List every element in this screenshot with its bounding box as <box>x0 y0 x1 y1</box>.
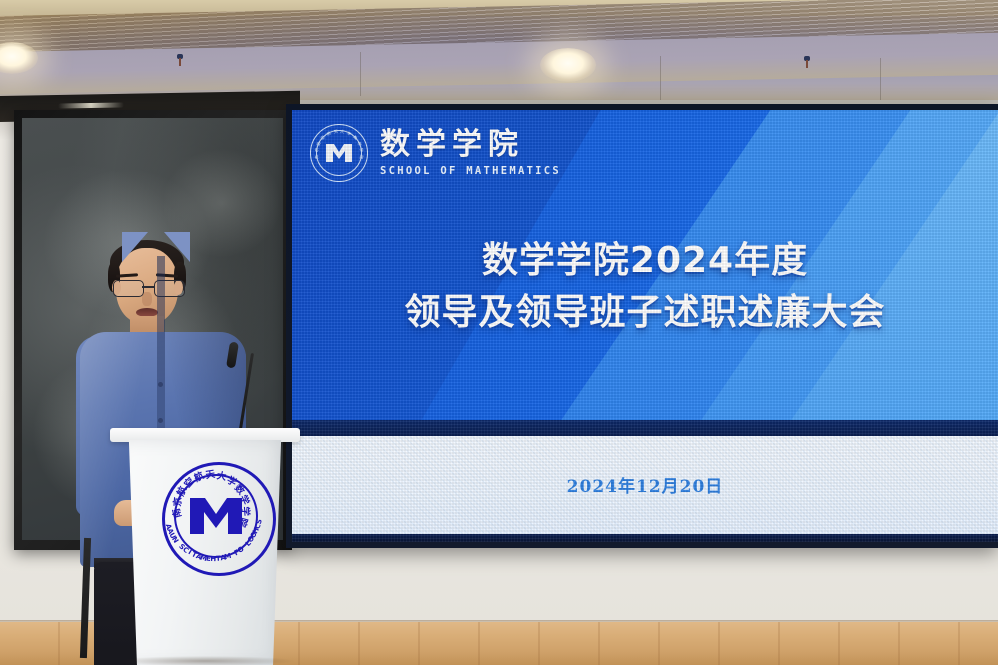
podium: 南京航空航天大学数学学院 SCHOOL OF MATHEMATICS NUAA <box>110 428 300 665</box>
podium-top-surface <box>110 428 300 442</box>
sprinkler-icon <box>803 56 811 68</box>
screen-headline: 数学学院2024年度 领导及领导班子述职述廉大会 <box>292 238 998 336</box>
speaker-collar <box>122 232 148 262</box>
sprinkler-icon <box>176 54 184 66</box>
screen-divider-band <box>292 420 998 436</box>
podium-floor-shadow <box>116 656 294 665</box>
ceiling <box>0 0 998 104</box>
ceiling-downlight <box>540 48 596 82</box>
screen-logo-title-zh: 数学学院 <box>380 130 561 160</box>
screen-white-band: 2024年12月20日 <box>292 436 998 534</box>
m-monogram-icon <box>325 143 353 163</box>
screen-bottom-edge <box>292 534 998 542</box>
headline-line-2: 领导及领导班子述职述廉大会 <box>292 290 998 336</box>
speaker-collar <box>164 232 190 262</box>
led-presentation-screen[interactable]: 南京航空航天大学数学学院 数学学院 SCHOOL OF MATHEMATICS … <box>292 110 998 542</box>
ceiling-seam <box>660 56 661 100</box>
headline-line-1: 数学学院2024年度 <box>292 238 998 284</box>
screen-header: 南京航空航天大学数学学院 数学学院 SCHOOL OF MATHEMATICS <box>310 124 561 182</box>
ceiling-seam <box>880 58 881 102</box>
m-monogram-icon <box>188 496 244 536</box>
speaker-shirt-placket <box>157 256 165 456</box>
podium-emblem: 南京航空航天大学数学学院 SCHOOL OF MATHEMATICS NUAA <box>162 462 270 570</box>
ceiling-seam <box>360 52 361 96</box>
lecture-hall-photo: 南京航空航天大学数学学院 数学学院 SCHOOL OF MATHEMATICS … <box>0 0 998 665</box>
screen-date-text: 2024年12月20日 <box>292 472 998 497</box>
screen-logo-title-en: SCHOOL OF MATHEMATICS <box>380 165 561 177</box>
speaker-nose <box>142 292 152 306</box>
school-seal-icon: 南京航空航天大学数学学院 <box>310 124 368 182</box>
